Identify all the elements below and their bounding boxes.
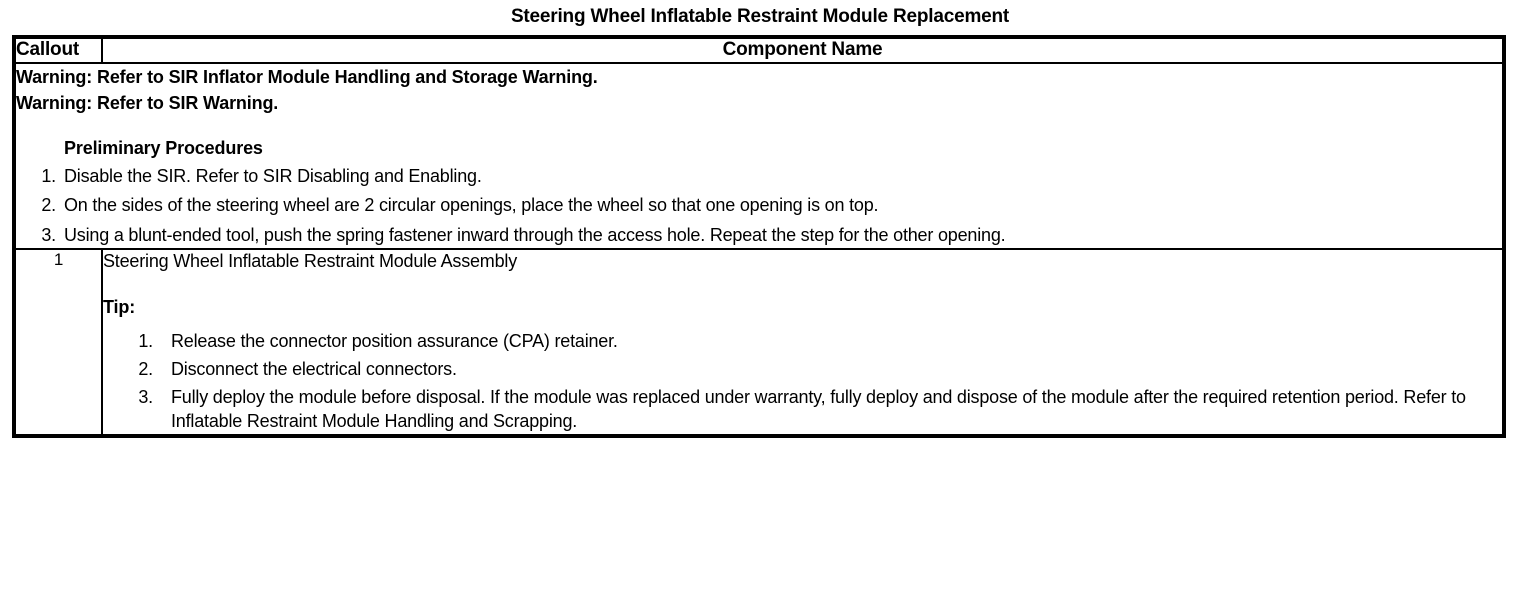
column-header-callout: Callout — [14, 37, 102, 63]
preliminary-procedures-row: Warning: Refer to SIR Inflator Module Ha… — [14, 63, 1504, 249]
list-marker: 2. — [121, 358, 153, 382]
list-item-text: Disconnect the electrical connectors. — [171, 359, 457, 379]
list-item-text: Fully deploy the module before disposal.… — [171, 387, 1466, 431]
tip-heading: Tip: — [103, 297, 1502, 318]
preliminary-procedures-cell: Warning: Refer to SIR Inflator Module Ha… — [14, 63, 1504, 249]
list-marker: 1. — [121, 330, 153, 354]
list-item-text: Disable the SIR. Refer to SIR Disabling … — [64, 165, 1502, 189]
list-marker: 3. — [26, 224, 56, 248]
list-item-text: Using a blunt-ended tool, push the sprin… — [64, 224, 1502, 248]
warning-line-2: Warning: Refer to SIR Warning. — [16, 90, 1502, 116]
list-marker: 2. — [26, 194, 56, 218]
list-item: 2. On the sides of the steering wheel ar… — [16, 194, 1502, 218]
table-row: 1 Steering Wheel Inflatable Restraint Mo… — [14, 249, 1504, 436]
table-header-row: Callout Component Name — [14, 37, 1504, 63]
component-callout-table: Callout Component Name Warning: Refer to… — [12, 35, 1506, 438]
list-marker: 3. — [121, 386, 153, 410]
preliminary-steps-list: 1. Disable the SIR. Refer to SIR Disabli… — [16, 165, 1502, 248]
component-detail-cell: Steering Wheel Inflatable Restraint Modu… — [102, 249, 1504, 436]
column-header-component-name: Component Name — [102, 37, 1504, 63]
list-item: 3. Fully deploy the module before dispos… — [103, 386, 1502, 434]
list-marker: 1. — [26, 165, 56, 189]
tip-steps-list: 1. Release the connector position assura… — [103, 330, 1502, 434]
service-procedure-page: Steering Wheel Inflatable Restraint Modu… — [0, 0, 1520, 590]
list-item: 1. Disable the SIR. Refer to SIR Disabli… — [16, 165, 1502, 189]
list-item: 3. Using a blunt-ended tool, push the sp… — [16, 224, 1502, 248]
page-title: Steering Wheel Inflatable Restraint Modu… — [0, 0, 1520, 35]
warning-line-1: Warning: Refer to SIR Inflator Module Ha… — [16, 64, 1502, 90]
list-item: 1. Release the connector position assura… — [103, 330, 1502, 354]
list-item-text: On the sides of the steering wheel are 2… — [64, 194, 1502, 218]
component-name-text: Steering Wheel Inflatable Restraint Modu… — [103, 250, 1502, 273]
list-item-text: Release the connector position assurance… — [171, 331, 618, 351]
preliminary-procedures-heading: Preliminary Procedures — [64, 138, 1502, 159]
list-item: 2. Disconnect the electrical connectors. — [103, 358, 1502, 382]
callout-number: 1 — [14, 249, 102, 436]
